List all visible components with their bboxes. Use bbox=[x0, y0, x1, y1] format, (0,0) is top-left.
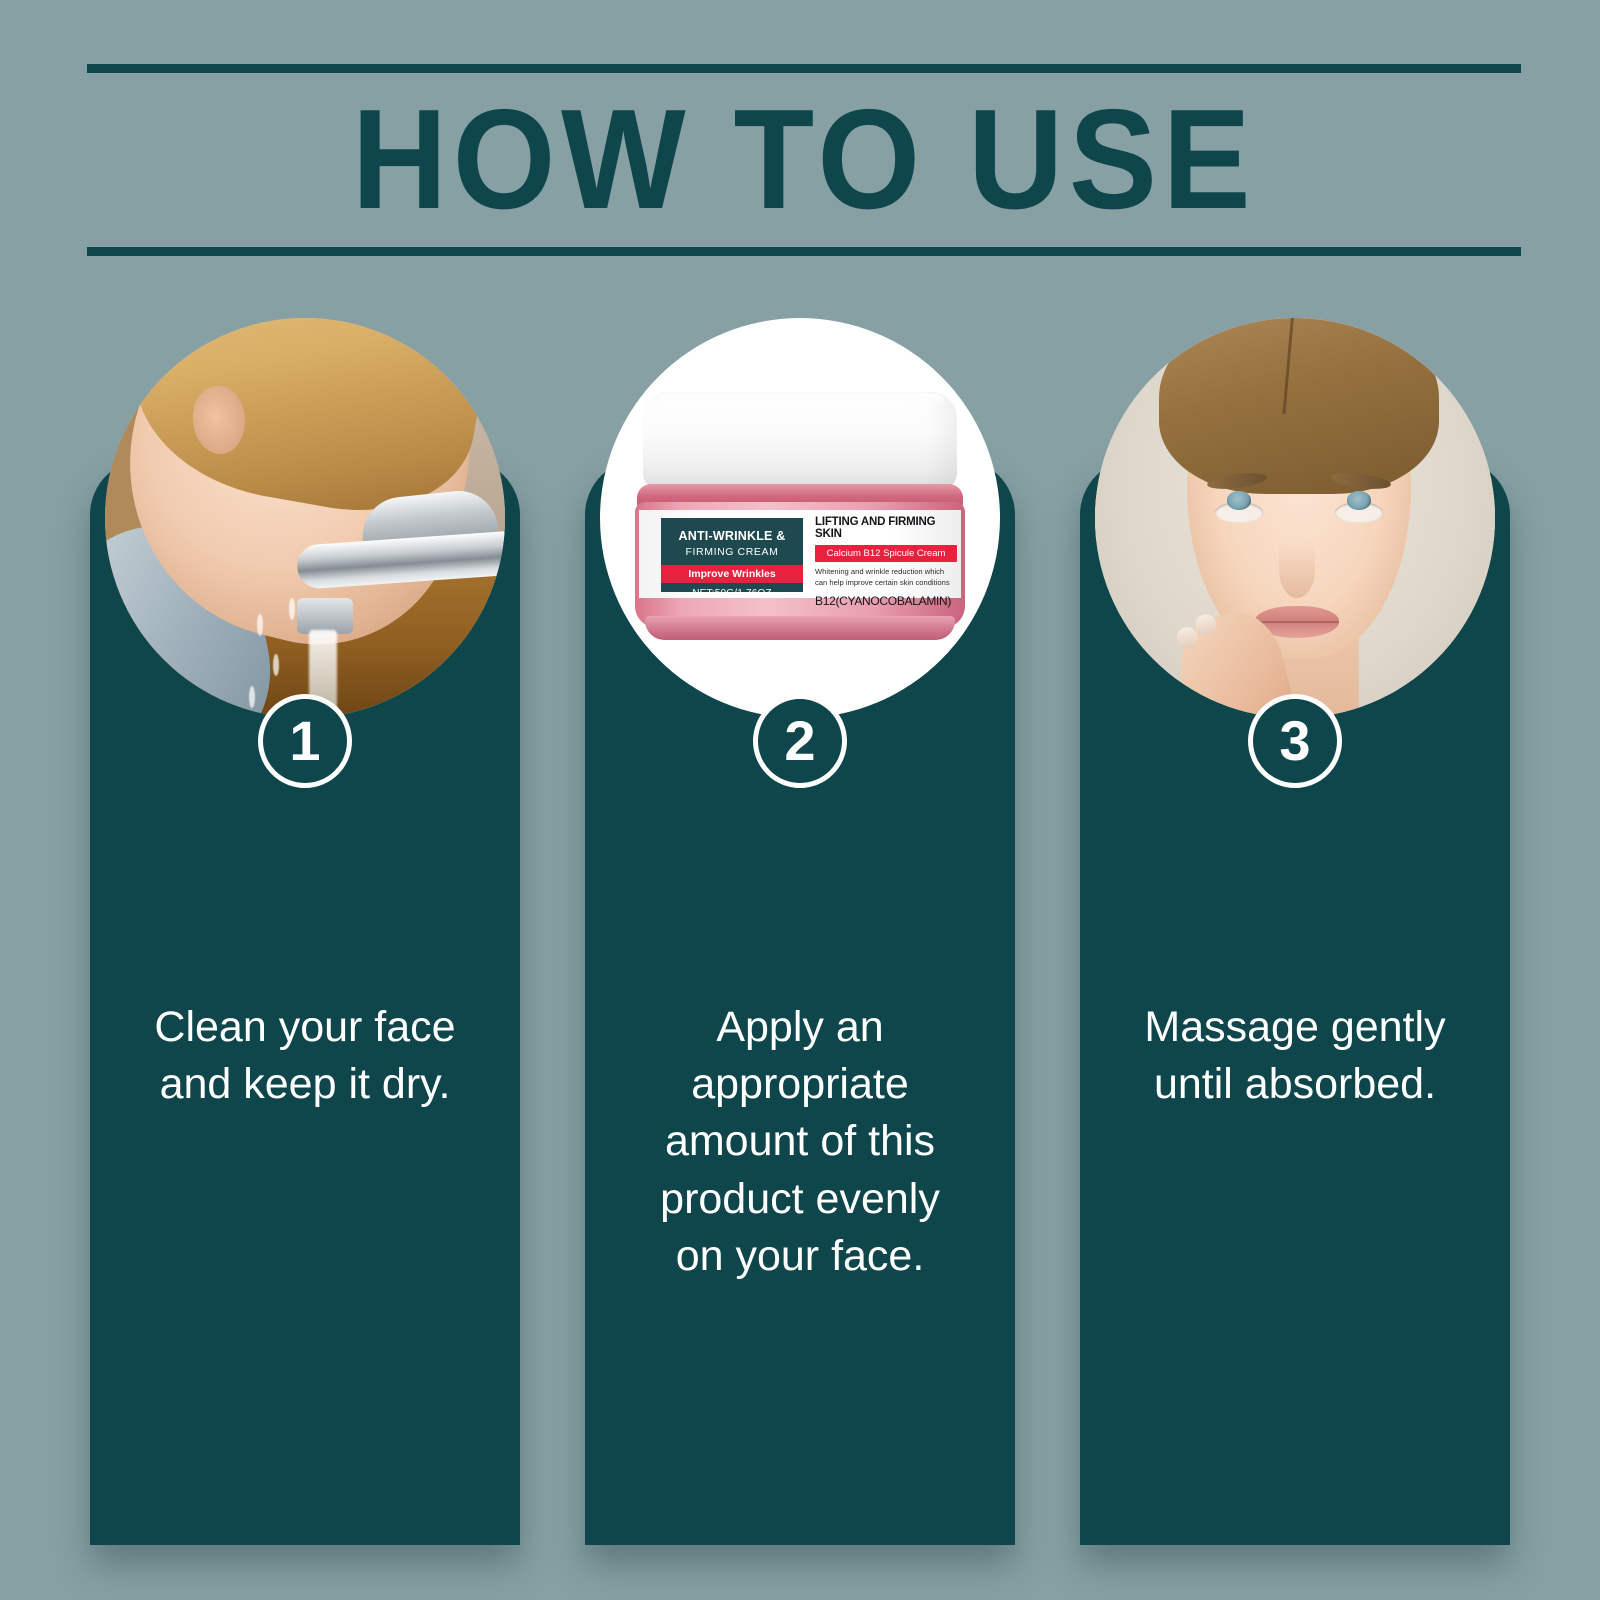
header: HOW TO USE bbox=[87, 64, 1521, 256]
step-card-3: Massage gently until absorbed. bbox=[1080, 318, 1510, 1558]
jar-label: ANTI-WRINKLE & FIRMING CREAM Improve Wri… bbox=[639, 510, 961, 598]
step-card-2: Apply an appropriate amount of this prod… bbox=[585, 318, 1015, 1558]
title-rule-top bbox=[87, 64, 1521, 73]
step-image-2-product-jar: ANTI-WRINKLE & FIRMING CREAM Improve Wri… bbox=[600, 318, 1000, 718]
product-ingredient: B12(CYANOCOBALAMIN) bbox=[815, 594, 957, 608]
step-caption-2: Apply an appropriate amount of this prod… bbox=[607, 999, 993, 1285]
steps-row: Clean your face and keep it dry. 1 bbox=[90, 318, 1510, 1558]
product-headline: LIFTING AND FIRMING SKIN bbox=[815, 516, 957, 540]
product-variant-band: Calcium B12 Spicule Cream bbox=[815, 545, 957, 562]
step-number-badge-2: 2 bbox=[753, 694, 847, 788]
step-image-1-washing-face bbox=[105, 318, 505, 718]
product-name-line1: ANTI-WRINKLE & bbox=[661, 529, 803, 543]
product-description: Whitening and wrinkle reduction which ca… bbox=[815, 567, 957, 589]
product-benefit-band: Improve Wrinkles bbox=[661, 565, 803, 583]
step-caption-1: Clean your face and keep it dry. bbox=[112, 999, 498, 1113]
product-net-weight: NET:50G/1.76OZ bbox=[661, 588, 803, 599]
product-jar: ANTI-WRINKLE & FIRMING CREAM Improve Wri… bbox=[635, 392, 965, 640]
jar-base bbox=[645, 616, 955, 640]
jar-label-left-block: ANTI-WRINKLE & FIRMING CREAM Improve Wri… bbox=[661, 518, 803, 592]
step-number-badge-1: 1 bbox=[258, 694, 352, 788]
page-title: HOW TO USE bbox=[137, 89, 1471, 231]
step-image-3-touching-face bbox=[1095, 318, 1495, 718]
step-number-badge-3: 3 bbox=[1248, 694, 1342, 788]
jar-lid bbox=[643, 392, 957, 488]
step-card-1: Clean your face and keep it dry. 1 bbox=[90, 318, 520, 1558]
title-rule-bottom bbox=[87, 247, 1521, 256]
product-name-line2: FIRMING CREAM bbox=[661, 546, 803, 558]
jar-label-right-block: LIFTING AND FIRMING SKIN Calcium B12 Spi… bbox=[815, 516, 957, 594]
step-caption-3: Massage gently until absorbed. bbox=[1102, 999, 1488, 1113]
